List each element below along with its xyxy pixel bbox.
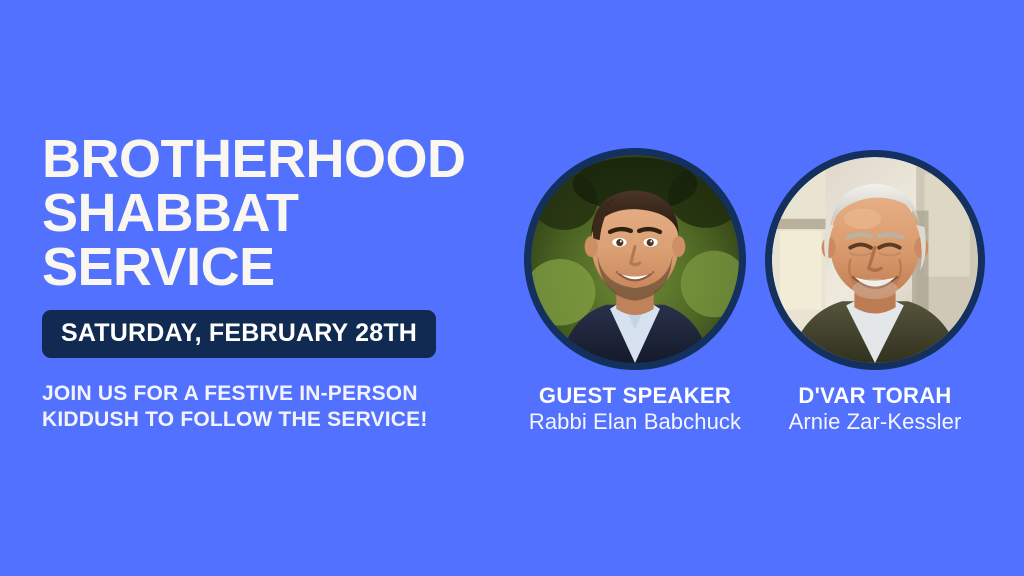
headline-line-3: SERVICE [42, 240, 512, 294]
headline-line-1: BROTHERHOOD [42, 132, 512, 186]
subtitle-line-1: JOIN US FOR A FESTIVE IN-PERSON [42, 381, 512, 407]
headline-line-2: SHABBAT [42, 186, 512, 240]
portrait-photo-rabbi-elan-babchuck [531, 155, 739, 363]
subtitle-line-2: KIDDUSH TO FOLLOW THE SERVICE! [42, 407, 512, 433]
speaker-role-label: GUEST SPEAKER [524, 383, 746, 408]
speaker-block-dvar-torah: D'VAR TORAH Arnie Zar-Kessler [750, 150, 1000, 435]
date-badge-label: SATURDAY, FEBRUARY 28TH [61, 321, 417, 346]
speaker-block-guest-speaker: GUEST SPEAKER Rabbi Elan Babchuck [508, 148, 763, 435]
caption-dvar-torah: D'VAR TORAH Arnie Zar-Kessler [765, 383, 985, 435]
speaker-name-label: Rabbi Elan Babchuck [524, 408, 746, 435]
speaker-name-label: Arnie Zar-Kessler [765, 408, 985, 435]
event-flyer: BROTHERHOOD SHABBAT SERVICE SATURDAY, FE… [0, 0, 1024, 576]
date-badge: SATURDAY, FEBRUARY 28TH [42, 310, 436, 358]
left-text-column: BROTHERHOOD SHABBAT SERVICE SATURDAY, FE… [42, 132, 512, 433]
portrait-ring [524, 148, 746, 370]
caption-guest-speaker: GUEST SPEAKER Rabbi Elan Babchuck [524, 383, 746, 435]
speaker-role-label: D'VAR TORAH [765, 383, 985, 408]
subtitle-text: JOIN US FOR A FESTIVE IN-PERSON KIDDUSH … [42, 381, 512, 433]
portrait-ring [765, 150, 985, 370]
page-title: BROTHERHOOD SHABBAT SERVICE [42, 132, 512, 294]
portrait-photo-arnie-zar-kessler [772, 157, 978, 363]
